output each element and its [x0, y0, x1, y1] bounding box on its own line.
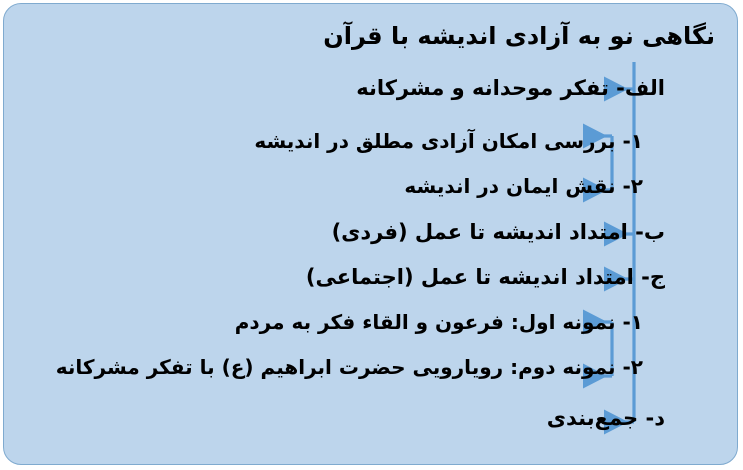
- node-b: ب- امتداد اندیشه تا عمل (فردی): [0, 222, 743, 243]
- node-a1-label: ۱- بررسی امکان آزادی مطلق در اندیشه: [254, 131, 643, 151]
- node-b-label: ب- امتداد اندیشه تا عمل (فردی): [332, 222, 665, 243]
- node-a2: ۲- نقش ایمان در اندیشه: [0, 176, 743, 196]
- node-d-label: د- جمع‌بندی: [547, 408, 665, 429]
- node-a: الف- تفکر موحدانه و مشرکانه: [0, 78, 743, 99]
- node-a-label: الف- تفکر موحدانه و مشرکانه: [356, 78, 665, 99]
- diagram-title: نگاهی نو به آزادی اندیشه با قرآن: [0, 24, 743, 48]
- node-c1-label: ۱- نمونه اول: فرعون و القاء فکر به مردم: [235, 312, 643, 332]
- diagram-canvas: نگاهی نو به آزادی اندیشه با قرآن الف- تف…: [0, 0, 743, 470]
- node-c2-label: ۲- نمونه دوم: رویارویی حضرت ابراهیم (ع) …: [56, 357, 643, 377]
- node-c1: ۱- نمونه اول: فرعون و القاء فکر به مردم: [0, 312, 743, 332]
- node-c-label: ج- امتداد اندیشه تا عمل (اجتماعی): [306, 267, 665, 288]
- node-c: ج- امتداد اندیشه تا عمل (اجتماعی): [0, 267, 743, 288]
- node-d: د- جمع‌بندی: [0, 408, 743, 429]
- diagram-title-label: نگاهی نو به آزادی اندیشه با قرآن: [323, 24, 715, 48]
- node-a2-label: ۲- نقش ایمان در اندیشه: [404, 176, 643, 196]
- node-a1: ۱- بررسی امکان آزادی مطلق در اندیشه: [0, 131, 743, 151]
- node-c2: ۲- نمونه دوم: رویارویی حضرت ابراهیم (ع) …: [0, 357, 743, 377]
